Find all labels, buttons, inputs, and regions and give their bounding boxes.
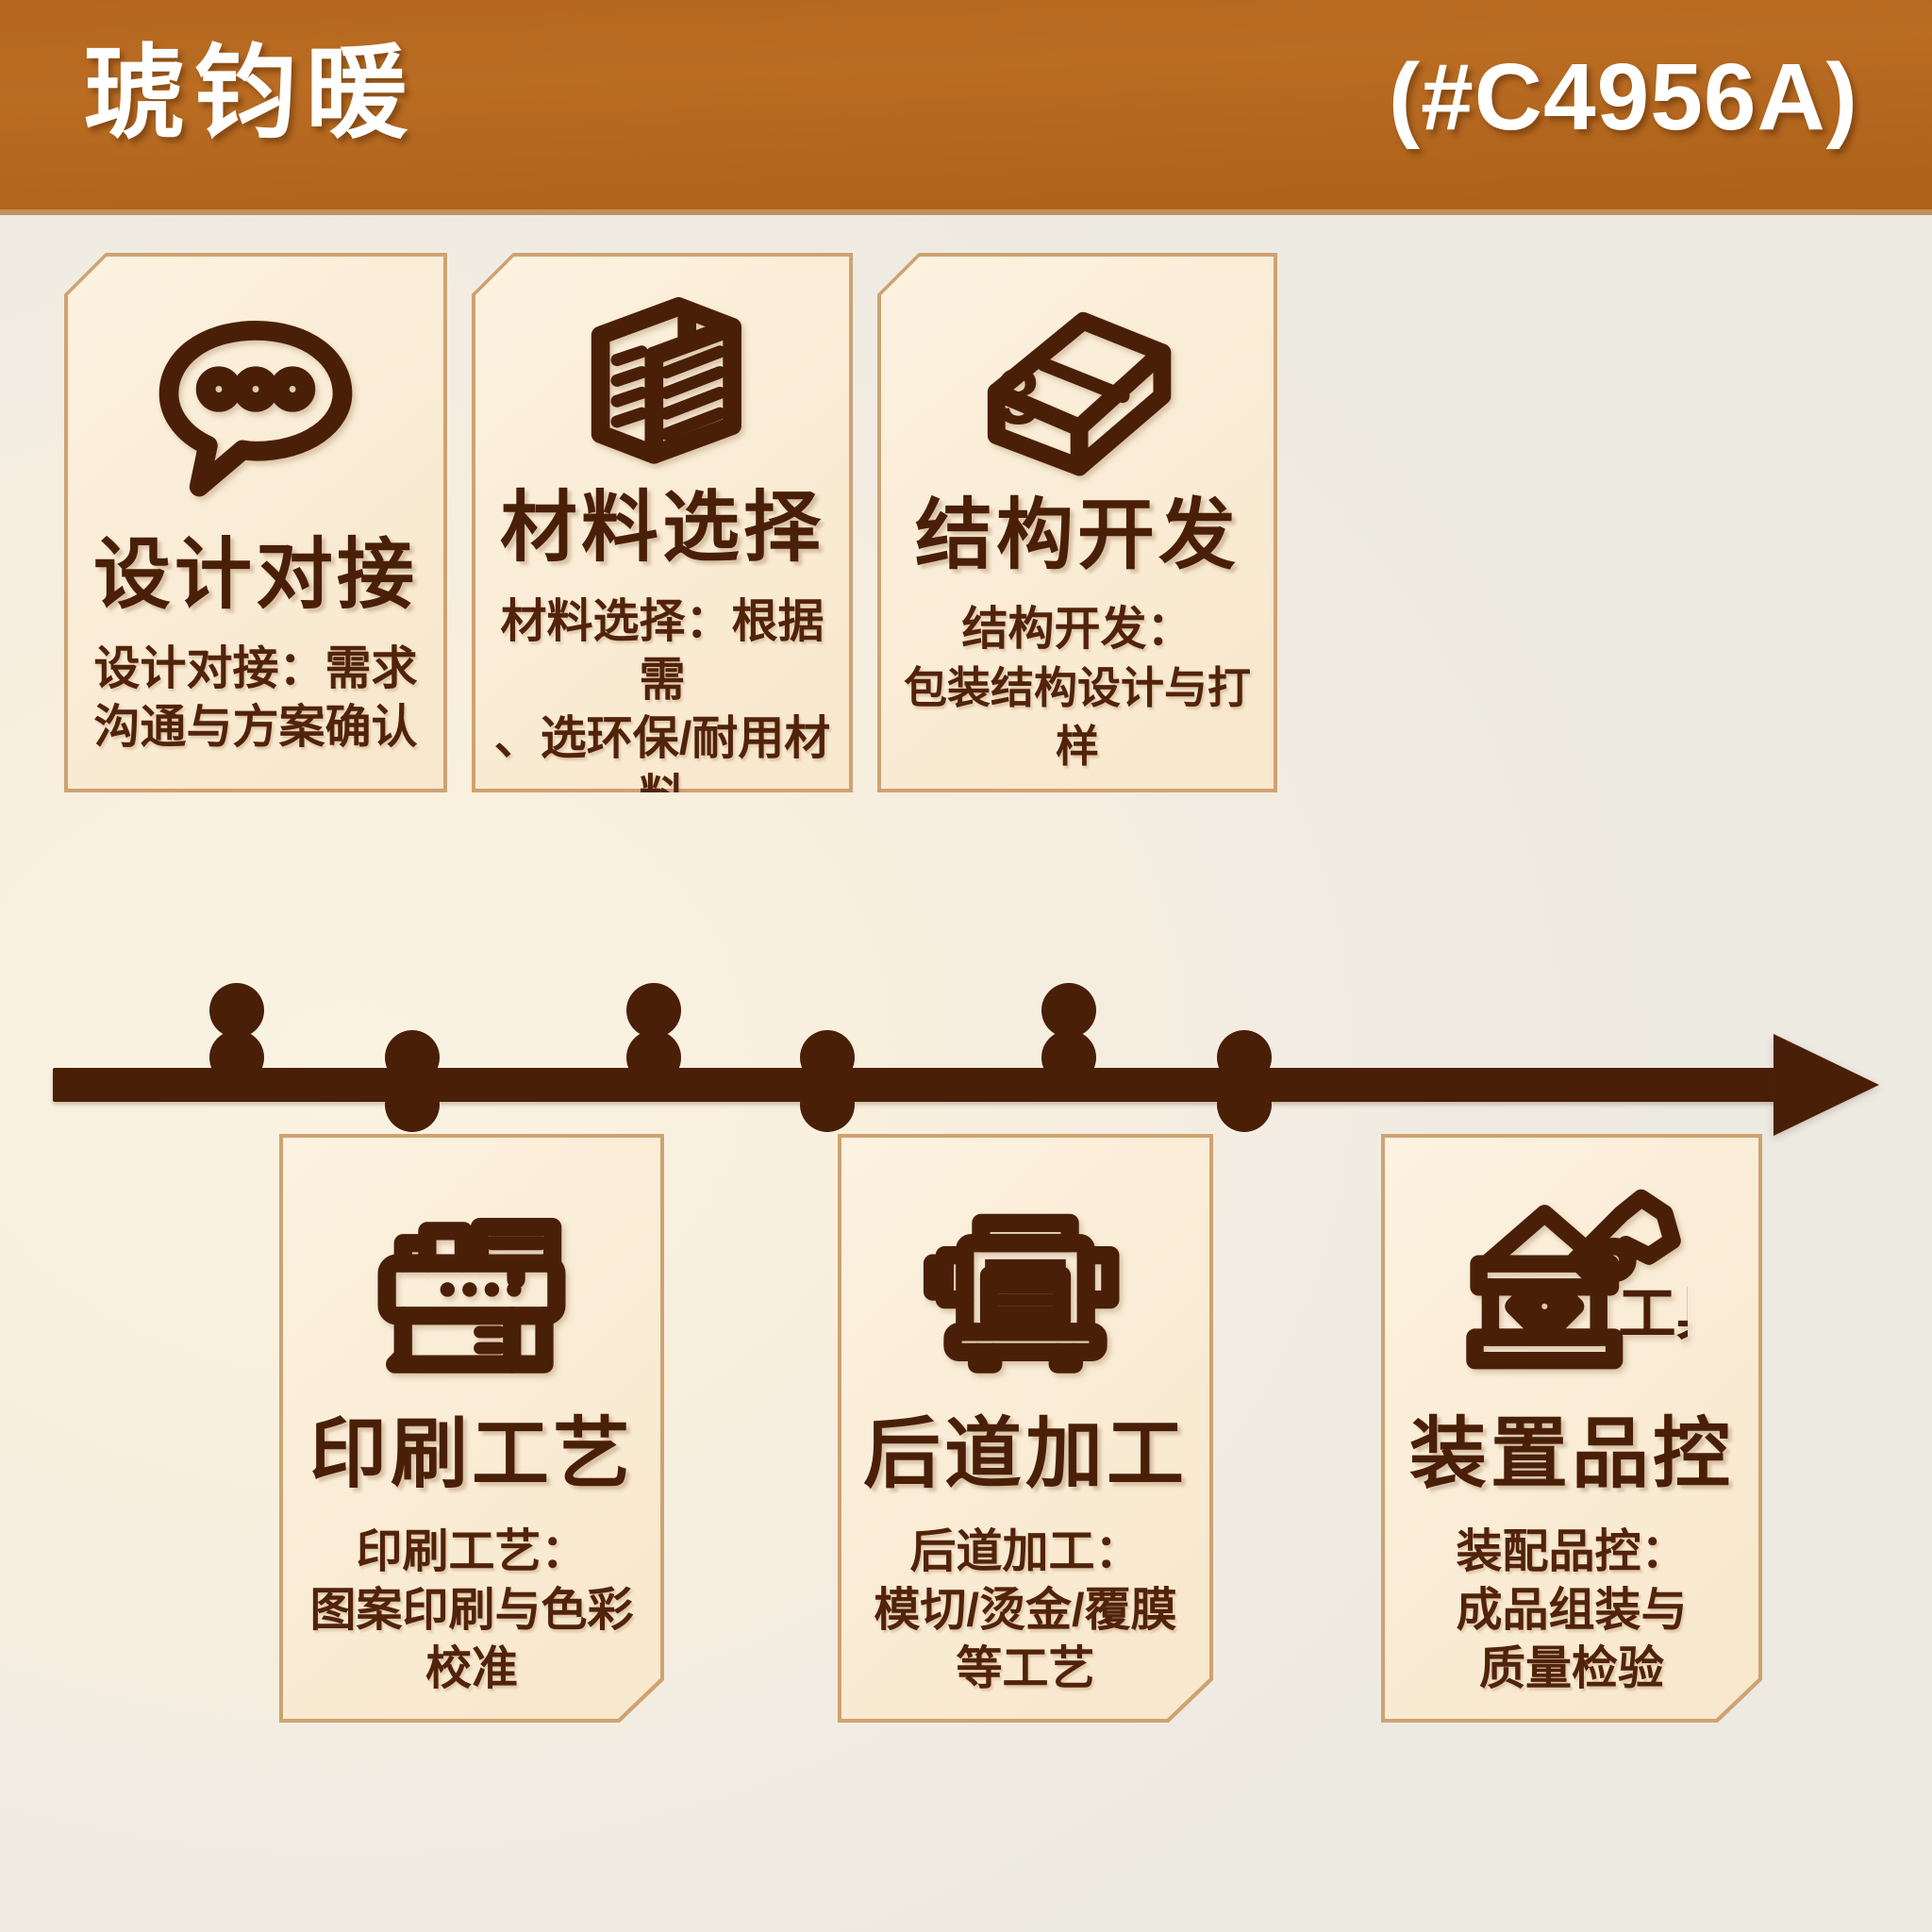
timeline-node-3[interactable] — [1041, 1024, 1096, 1079]
process-card-structure-development[interactable]: 3 结构开发 结构开发： 包装结构设计与打样 — [877, 253, 1277, 792]
card-description: 印刷工艺： 图案印刷与色彩 校准 — [309, 1523, 633, 1698]
icon-inner-label: 工具 — [1618, 1282, 1688, 1347]
svg-text:3: 3 — [996, 352, 1041, 441]
desc-line: 、选环保/耐用材料 — [485, 709, 840, 826]
desc-line: 图案印刷与色彩 — [309, 1581, 633, 1640]
process-card-printing-process[interactable]: 印刷工艺 印刷工艺： 图案印刷与色彩 校准 — [279, 1134, 664, 1723]
desc-line: 成品组装与 — [1456, 1581, 1687, 1640]
desc-line: 材料选择：根据需 — [485, 592, 840, 709]
desc-line: 质量检验 — [1456, 1640, 1687, 1698]
card-title: 结构开发 — [915, 491, 1240, 581]
card-title: 装置品控 — [1409, 1409, 1734, 1500]
process-card-design-docking[interactable]: 设计对接 设计对接：需求 沟通与方案确认 — [64, 253, 447, 792]
infographic-page: 琥钧暖 (#C4956A) 设计对接 设计对接：需求 沟通与方案确认 — [0, 0, 1932, 1932]
timeline-node-1[interactable] — [209, 1024, 264, 1079]
timeline-node-4[interactable] — [385, 1024, 440, 1079]
desc-line: 校准 — [309, 1640, 633, 1698]
desc-line: 包装结构设计与打样 — [891, 658, 1264, 775]
process-card-post-processing[interactable]: 后道加工 后道加工： 模切/烫金/覆膜 等工艺 — [838, 1134, 1213, 1723]
desc-line: 装配品控： — [1456, 1523, 1687, 1581]
header-band: 琥钧暖 (#C4956A) — [0, 0, 1932, 215]
desc-line: 模切/烫金/覆膜 — [874, 1581, 1176, 1640]
timeline-node-6[interactable] — [1217, 1024, 1272, 1079]
desc-line: 等工艺 — [874, 1640, 1176, 1698]
document-stack-icon — [485, 274, 840, 479]
card-title: 设计对接 — [93, 530, 418, 621]
card-description: 设计对接：需求 沟通与方案确认 — [93, 640, 417, 757]
card-title: 后道加工 — [863, 1409, 1188, 1500]
card-title: 材料选择 — [500, 483, 824, 574]
process-card-material-selection[interactable]: 材料选择 材料选择：根据需 、选环保/耐用材料 — [472, 253, 853, 792]
card-title: 印刷工艺 — [309, 1409, 634, 1500]
desc-line: 印刷工艺： — [309, 1523, 633, 1581]
color-code-label: (#C4956A) — [1389, 38, 1858, 157]
page-title: 琥钧暖 — [83, 32, 417, 155]
desc-line: 结构开发： — [891, 600, 1264, 658]
card-description: 后道加工： 模切/烫金/覆膜 等工艺 — [874, 1523, 1176, 1698]
box-3d-icon: 3 — [891, 274, 1264, 487]
timeline-node-2[interactable] — [626, 1024, 681, 1079]
card-description: 材料选择：根据需 、选环保/耐用材料 — [485, 592, 840, 826]
desc-line: 设计对接：需求 — [93, 640, 417, 698]
desc-line: 后道加工： — [874, 1523, 1176, 1581]
speech-bubble-icon — [77, 274, 434, 526]
timeline-node-5[interactable] — [800, 1024, 855, 1079]
card-description: 装配品控： 成品组装与 质量检验 — [1456, 1523, 1687, 1698]
arrow-right-icon — [1774, 1034, 1879, 1136]
card-description: 结构开发： 包装结构设计与打样 — [891, 600, 1264, 775]
process-timeline — [0, 1024, 1932, 1138]
inspection-tool-icon: 工具 — [1394, 1155, 1749, 1396]
timeline-line — [53, 1068, 1789, 1102]
printer-icon — [292, 1155, 651, 1396]
die-cutting-machine-icon — [851, 1155, 1200, 1396]
desc-line: 沟通与方案确认 — [93, 698, 417, 757]
process-card-assembly-quality-control[interactable]: 工具 装置品控 装配品控： 成品组装与 质量检验 — [1381, 1134, 1762, 1723]
